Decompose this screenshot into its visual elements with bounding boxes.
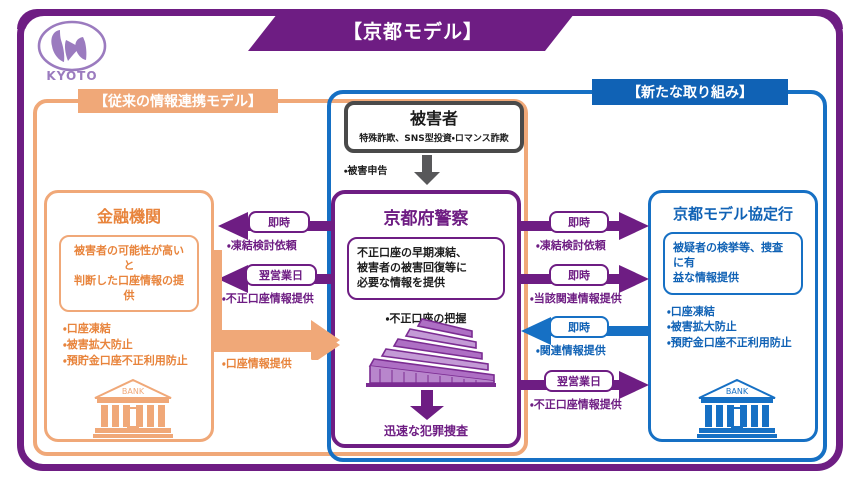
partner-bank-inner-line-1: 被疑者の検挙等、捜査に有 <box>673 241 793 271</box>
flow-left-2-sub: ・不正口座情報提供 <box>222 290 314 306</box>
flow-right-3-pill: 即時 <box>549 316 609 338</box>
new-effort-banner-label: 【新たな取り組み】 <box>627 82 753 102</box>
partner-bank-title: 京都モデル協定行 <box>651 203 815 224</box>
partner-bank-bullet-3: ・預貯金口座不正利用防止 <box>667 335 815 351</box>
kyoto-police-inner-box: 不正口座の早期凍結、 被害者の被害回復等に 必要な情報を提供 <box>347 237 505 300</box>
flow-left-1-pill: 即時 <box>248 211 310 233</box>
kyoto-logo-icon: KYOTO <box>33 18 111 86</box>
kyoto-model-partner-bank-card: 京都モデル協定行 被疑者の検挙等、捜査に有 益な情報提供 ・口座凍結 ・被害拡大… <box>648 190 818 442</box>
bank-icon: BANK <box>697 378 777 440</box>
flow-right-2-pill: 即時 <box>549 264 609 286</box>
legacy-model-banner-label: 【従来の情報連携モデル】 <box>94 91 262 111</box>
partner-bank-inner-line-2: 益な情報提供 <box>673 271 793 286</box>
victim-report-label: ・被害申告 <box>344 162 387 177</box>
financial-institution-inner-box: 被害者の可能性が高いと 判断した口座情報の提供 <box>59 235 199 312</box>
partner-bank-bullet-1: ・口座凍結 <box>667 304 815 320</box>
kyoto-model-diagram: 【京都モデル】 KYOTO 【従来の情報連携モデル】 【新たな取り組み】 被害者… <box>0 0 860 484</box>
flow-right-3-sub: ・関連情報提供 <box>536 342 606 358</box>
victim-box: 被害者 特殊詐欺、SNS型投資・ロマンス詐欺 <box>344 101 524 153</box>
financial-institution-inner-line-1: 被害者の可能性が高いと <box>69 244 189 274</box>
svg-text:KYOTO: KYOTO <box>46 69 97 83</box>
kyoto-police-outcome: 迅速な犯罪捜査 <box>335 422 517 439</box>
diagram-title: 【京都モデル】 <box>343 17 483 44</box>
flow-right-3-pill-label: 即時 <box>568 319 590 335</box>
police-outcome-arrow-icon <box>410 390 444 420</box>
bank-icon: BANK <box>93 378 173 440</box>
flow-left-2-pill-label: 翌営業日 <box>259 267 303 283</box>
flow-right-1-pill-label: 即時 <box>568 214 590 230</box>
financial-institution-bullets: ・口座凍結 ・被害拡大防止 ・預貯金口座不正利用防止 <box>63 321 211 369</box>
flow-left-2-pill: 翌営業日 <box>245 264 317 286</box>
financial-institution-card: 金融機関 被害者の可能性が高いと 判断した口座情報の提供 ・口座凍結 ・被害拡大… <box>44 190 214 442</box>
financial-institution-bullet-2: ・被害拡大防止 <box>63 337 211 353</box>
kyoto-police-inner-line-1: 不正口座の早期凍結、 <box>357 246 495 261</box>
victim-subtitle: 特殊詐欺、SNS型投資・ロマンス詐欺 <box>359 131 508 144</box>
financial-institution-bullet-1: ・口座凍結 <box>63 321 211 337</box>
svg-text:BANK: BANK <box>122 387 145 396</box>
financial-institution-inner-line-2: 判断した口座情報の提供 <box>69 274 189 304</box>
new-effort-banner: 【新たな取り組み】 <box>592 79 788 105</box>
flow-right-4-pill-label: 翌営業日 <box>557 373 601 389</box>
kyoto-police-inner-line-3: 必要な情報を提供 <box>357 276 495 291</box>
flow-right-4-pill: 翌営業日 <box>544 370 614 392</box>
flow-right-1-pill: 即時 <box>549 211 609 233</box>
flow-right-1-sub: ・凍結検討依頼 <box>536 237 606 253</box>
kyoto-police-inner-line-2: 被害者の被害回復等に <box>357 261 495 276</box>
flow-left-3-sub: ・口座情報提供 <box>222 355 292 371</box>
financial-institution-bullet-3: ・預貯金口座不正利用防止 <box>63 353 211 369</box>
partner-bank-bullet-2: ・被害拡大防止 <box>667 319 815 335</box>
partner-bank-inner-box: 被疑者の検挙等、捜査に有 益な情報提供 <box>663 232 803 295</box>
flow-left-1-pill-label: 即時 <box>268 214 290 230</box>
legacy-model-banner: 【従来の情報連携モデル】 <box>78 89 278 113</box>
kyoto-police-card: 京都府警察 不正口座の早期凍結、 被害者の被害回復等に 必要な情報を提供 ・不正… <box>331 190 521 448</box>
financial-institution-title: 金融機関 <box>47 203 211 227</box>
svg-text:BANK: BANK <box>726 387 749 396</box>
flow-left-1-sub: ・凍結検討依頼 <box>227 237 297 253</box>
kyoto-police-title: 京都府警察 <box>335 204 517 229</box>
flow-right-4-sub: ・不正口座情報提供 <box>530 396 622 412</box>
kyoto-logo: KYOTO <box>33 18 111 86</box>
flow-right-2-pill-label: 即時 <box>568 267 590 283</box>
victim-report-arrow-icon <box>414 155 440 185</box>
partner-bank-bullets: ・口座凍結 ・被害拡大防止 ・預貯金口座不正利用防止 <box>667 304 815 352</box>
victim-title: 被害者 <box>410 110 458 128</box>
police-headquarters-icon <box>360 317 498 389</box>
diagram-title-banner: 【京都モデル】 <box>248 9 578 51</box>
flow-right-2-sub: ・当該関連情報提供 <box>530 290 622 306</box>
